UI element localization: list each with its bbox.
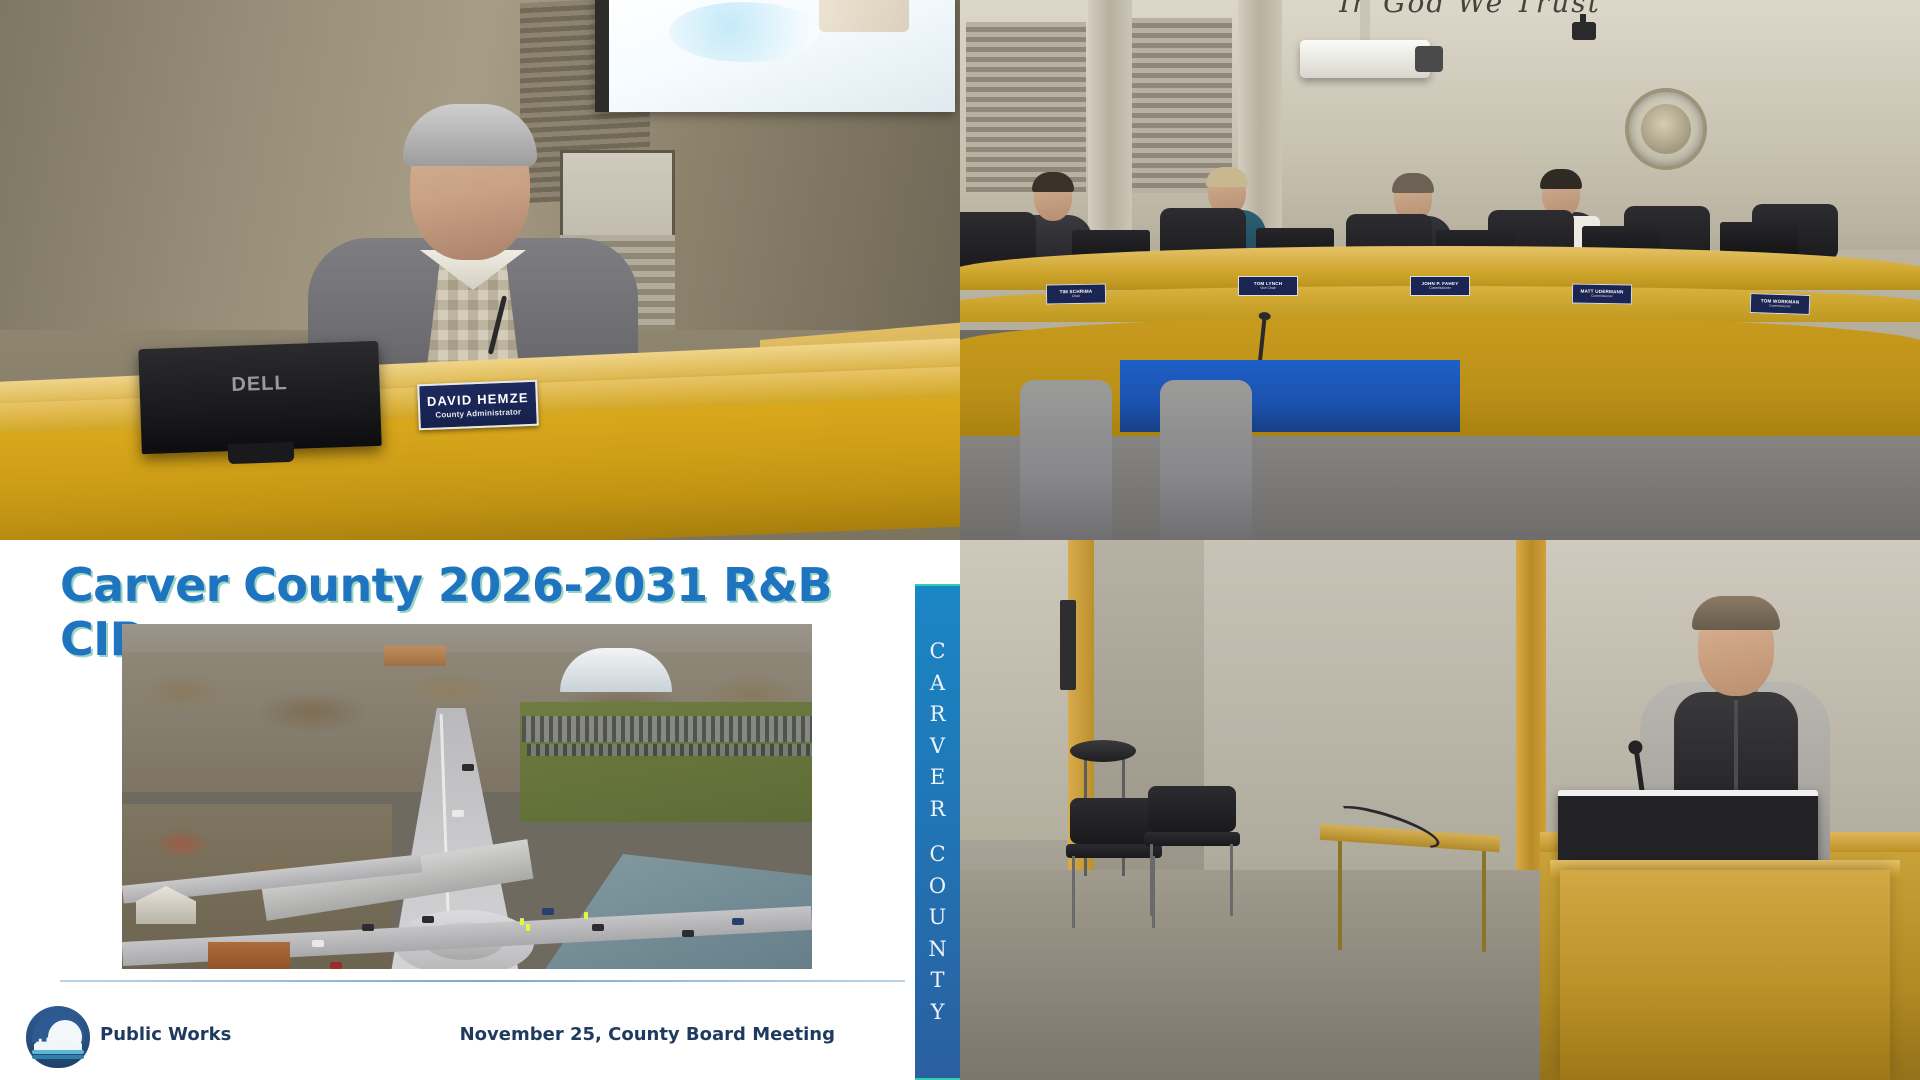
wall-column-left — [1088, 0, 1132, 250]
window-blinds-left — [966, 22, 1086, 192]
in-god-we-trust-text: In God We Trust — [1260, 0, 1680, 19]
nameplate-title: County Administrator — [435, 407, 521, 419]
photo-vehicles — [122, 624, 812, 969]
public-works-seal-icon — [26, 1006, 90, 1068]
window-blinds-right — [1122, 18, 1232, 193]
folding-chair-2 — [1138, 786, 1248, 916]
county-seal-inner — [1641, 104, 1691, 154]
podium-body: CARVER COUNTY — [1560, 870, 1890, 1080]
monitor-stand — [228, 442, 295, 464]
member-3-hair — [1392, 173, 1434, 193]
slide-footer-rule — [60, 980, 905, 982]
table-leg — [1482, 842, 1486, 952]
sidebar-letter: O — [929, 871, 946, 903]
projected-slide-graphic — [669, 2, 819, 62]
slide-vertical-brand-bar: C A R V E R C O U N T Y — [915, 584, 960, 1080]
ceiling-camera — [1572, 22, 1596, 40]
vehicle — [422, 916, 434, 923]
projector-lens — [1415, 46, 1443, 72]
dais-nameplate-4-title: Commissioner — [1591, 294, 1613, 298]
sidebar-letter: C — [929, 636, 945, 668]
member-4-hair — [1540, 169, 1582, 189]
sidebar-letter: U — [929, 902, 947, 934]
sidebar-letter: R — [930, 794, 946, 826]
slide-meeting-label: November 25, County Board Meeting — [460, 1024, 835, 1045]
vehicle — [362, 924, 374, 931]
dell-monitor: DELL — [138, 341, 382, 454]
vehicle — [732, 918, 744, 925]
speaker-hair — [1692, 596, 1780, 630]
vehicle — [312, 940, 324, 947]
projected-slide-text-block — [819, 0, 909, 32]
chair-back — [1148, 786, 1236, 832]
chair-leg — [1230, 844, 1233, 916]
sidebar-letter: A — [930, 668, 945, 700]
sidebar-letter: E — [930, 762, 945, 794]
sidebar-letter: V — [930, 731, 945, 763]
ceiling-projector — [1300, 40, 1430, 78]
dais-nameplate-2-title: Vice Chair — [1260, 287, 1276, 291]
worker-vest — [584, 912, 588, 919]
nameplate-david-hemze: DAVID HEMZE County Administrator — [417, 380, 539, 431]
county-seal-plaque — [1625, 88, 1707, 170]
projection-screen — [595, 0, 955, 112]
seal-water-light — [32, 1050, 84, 1054]
dais-nameplate-3: JOHN P. FAHEY Commissioner — [1410, 276, 1470, 296]
administrator-hair — [403, 104, 537, 166]
slide-department-label: Public Works — [100, 1024, 231, 1045]
vehicle — [330, 962, 342, 969]
dais-nameplate-4: MATT UDERMANN Commissioner — [1572, 283, 1632, 304]
member-2-hair — [1206, 167, 1248, 187]
wall-speaker — [1060, 600, 1076, 690]
audience-chair-right — [1160, 380, 1252, 540]
chair-leg — [1072, 856, 1075, 928]
sidebar-letter: Y — [931, 997, 945, 1029]
sidebar-letter: C — [929, 839, 945, 871]
vehicle — [462, 764, 474, 771]
audience-chair-left — [1020, 380, 1112, 540]
pane-board-dais-camera[interactable]: In God We Trust — [960, 0, 1920, 540]
dais-nameplate-5-title: Commissioner — [1769, 304, 1791, 308]
slide-surface: Carver County 2026-2031 R&B CIP — [0, 540, 960, 1080]
pane-administrator-camera[interactable]: DELL DAVID HEMZE County Administrator — [0, 0, 960, 540]
dais-nameplate-1: TIM SCHRIMA Chair — [1046, 283, 1106, 304]
sidebar-letter: R — [930, 699, 946, 731]
projector-mount-pole — [1360, 0, 1370, 40]
chair-leg — [1150, 844, 1153, 916]
pane-presentation-slide[interactable]: Carver County 2026-2031 R&B CIP — [0, 540, 960, 1080]
member-1-hair — [1032, 172, 1074, 192]
seal-water-dark — [32, 1055, 84, 1059]
sidebar-letter: N — [928, 934, 946, 966]
round-stool — [1070, 740, 1136, 762]
worker-vest — [520, 918, 524, 925]
dais-nameplate-5: TOM WORKMAN Commissioner — [1750, 293, 1811, 315]
vehicle — [452, 810, 464, 817]
slide-aerial-photo — [122, 624, 812, 969]
dais-nameplate-2: TOM LYNCH Vice Chair — [1238, 276, 1298, 296]
dais-nameplate-3-title: Commissioner — [1429, 287, 1451, 291]
dais-nameplate-1-title: Chair — [1072, 295, 1080, 299]
dell-logo: DELL — [231, 372, 288, 397]
sidebar-letter: T — [930, 965, 944, 997]
worker-vest — [526, 924, 530, 931]
pane-podium-camera[interactable]: CARVER COUNTY — [960, 540, 1920, 1080]
video-grid-stage: DELL DAVID HEMZE County Administrator In… — [0, 0, 1920, 1080]
carpet-floor — [960, 870, 1540, 1080]
vehicle — [592, 924, 604, 931]
nameplate-name: DAVID HEMZE — [427, 391, 529, 408]
chair-seat — [1144, 832, 1240, 846]
vehicle — [542, 908, 554, 915]
vehicle — [682, 930, 694, 937]
podium-laptop — [1558, 790, 1818, 868]
table-leg — [1338, 840, 1342, 950]
